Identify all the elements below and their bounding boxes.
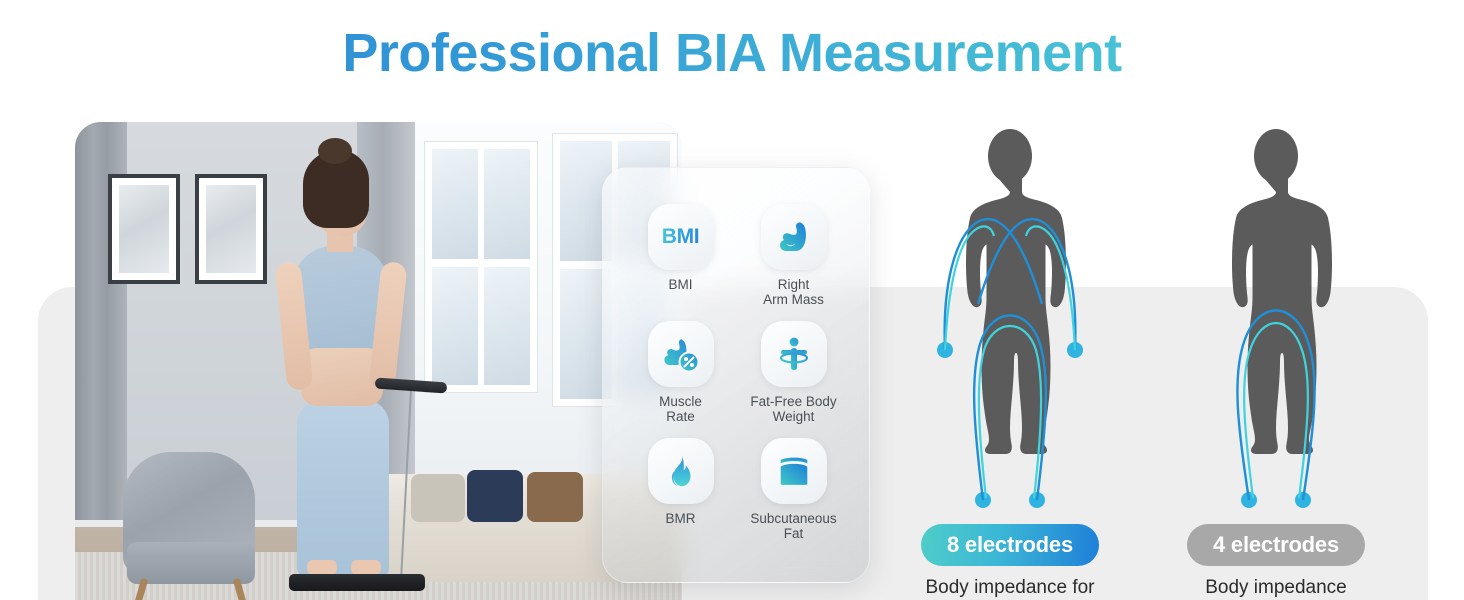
eight-electrodes-column: 8 electrodes Body impedance for — [894, 128, 1126, 600]
feature-label: BMI — [668, 277, 692, 292]
features-grid: BMI BMI Right — [631, 204, 843, 541]
caption-8-electrodes: Body impedance for — [894, 575, 1126, 600]
bmi-tile: BMI — [648, 204, 714, 270]
feature-label: Right Arm Mass — [763, 277, 824, 307]
bmi-icon: BMI — [662, 225, 700, 249]
page-title: Professional BIA Measurement — [0, 22, 1464, 84]
body-silhouette-4-electrodes — [1186, 128, 1366, 518]
promo-banner: Professional BIA Measurement — [0, 0, 1464, 600]
bmr-tile — [648, 438, 714, 504]
feature-label: Fat-Free Body Weight — [750, 394, 836, 424]
muscle-percent-icon — [661, 334, 701, 374]
flexed-bicep-icon — [774, 217, 814, 257]
body-ring-icon — [774, 334, 814, 374]
feature-label: BMR — [666, 511, 696, 526]
right-arm-mass-tile — [761, 204, 827, 270]
four-electrodes-column: 4 electrodes Body impedance — [1160, 128, 1392, 600]
feature-right-arm-mass[interactable]: Right Arm Mass — [744, 204, 843, 307]
lifestyle-photo — [75, 122, 682, 600]
feature-bmi[interactable]: BMI BMI — [631, 204, 730, 307]
skin-layer-icon — [775, 452, 813, 490]
fat-free-body-weight-tile — [761, 321, 827, 387]
subcutaneous-fat-tile — [761, 438, 827, 504]
body-silhouette-8-electrodes — [920, 128, 1100, 518]
status-badge-8-electrodes: 8 electrodes — [921, 524, 1099, 566]
caption-4-electrodes: Body impedance — [1160, 575, 1392, 600]
feature-label: Subcutaneous Fat — [750, 511, 836, 541]
feature-bmr[interactable]: BMR — [631, 438, 730, 541]
feature-subcutaneous-fat[interactable]: Subcutaneous Fat — [744, 438, 843, 541]
features-card: BMI BMI Right — [602, 167, 870, 583]
muscle-rate-tile — [648, 321, 714, 387]
feature-muscle-rate[interactable]: Muscle Rate — [631, 321, 730, 424]
feature-label: Muscle Rate — [659, 394, 702, 424]
feature-fat-free-body-weight[interactable]: Fat-Free Body Weight — [744, 321, 843, 424]
status-badge-4-electrodes: 4 electrodes — [1187, 524, 1365, 566]
flame-icon — [662, 452, 700, 490]
